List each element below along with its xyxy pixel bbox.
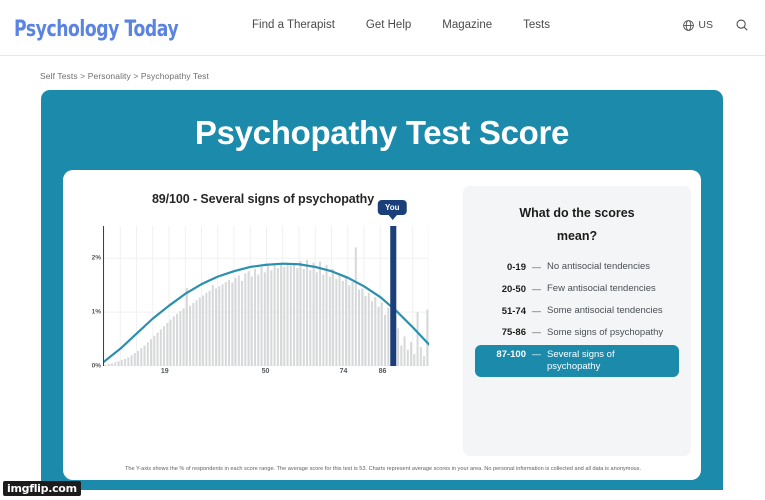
histogram-bar	[300, 261, 302, 366]
histogram-bar	[316, 272, 318, 366]
histogram-bar	[387, 308, 389, 366]
histogram-bar	[400, 346, 402, 366]
site-logo[interactable]: Psychology Today	[14, 14, 178, 41]
histogram-bar	[248, 271, 250, 366]
chart-svg	[104, 226, 429, 366]
you-marker-bar	[390, 226, 396, 366]
legend-dash: —	[532, 327, 541, 338]
legend-dash: —	[532, 305, 541, 316]
histogram-bar	[114, 362, 116, 366]
histogram-bar	[196, 300, 198, 366]
histogram-bar	[339, 273, 341, 366]
legend-row: 20-50—Few antisocial tendencies	[475, 279, 679, 299]
histogram-bar	[241, 281, 243, 366]
histogram-bar	[345, 278, 347, 366]
nav-utility-group: US	[682, 18, 749, 32]
page-title: Psychopathy Test Score	[41, 114, 723, 152]
histogram-bar	[235, 278, 237, 366]
histogram-bar	[296, 268, 298, 366]
legend-description: Few antisocial tendencies	[547, 283, 656, 295]
globe-icon	[682, 19, 695, 32]
search-icon[interactable]	[735, 18, 749, 32]
histogram-bar	[189, 306, 191, 366]
score-legend-panel: What do the scores mean? 0-19—No antisoc…	[463, 186, 691, 456]
histogram-bar	[342, 281, 344, 366]
histogram-bar	[166, 323, 168, 366]
histogram-bar	[257, 274, 259, 366]
histogram-bar	[290, 266, 292, 366]
histogram-bar	[381, 302, 383, 366]
histogram-bar	[183, 308, 185, 366]
histogram-bar	[410, 342, 412, 366]
histogram-bar	[378, 307, 380, 366]
histogram-bar	[277, 268, 279, 366]
legend-row: 75-86—Some signs of psychopathy	[475, 323, 679, 343]
histogram-bar	[313, 263, 315, 366]
histogram-bar	[202, 295, 204, 366]
histogram-bar	[365, 296, 367, 366]
histogram-bar	[348, 285, 350, 366]
histogram-bar	[326, 265, 328, 366]
histogram-bar	[329, 277, 331, 366]
legend-range: 0-19	[484, 261, 526, 273]
legend-description: No antisocial tendencies	[547, 261, 650, 273]
histogram-bar	[205, 293, 207, 366]
histogram-bar	[134, 353, 136, 366]
histogram-bar	[270, 270, 272, 366]
histogram-bar	[215, 288, 217, 366]
x-tick-label: 74	[340, 368, 348, 375]
x-tick-label: 19	[161, 368, 169, 375]
breadcrumb-item-self-tests[interactable]: Self Tests	[40, 71, 78, 81]
histogram-bar	[368, 293, 370, 366]
histogram-bar	[267, 266, 269, 366]
histogram-bar	[199, 298, 201, 366]
histogram-bar	[209, 291, 211, 366]
histogram-bar	[384, 315, 386, 366]
histogram-bar	[254, 269, 256, 366]
histogram-bar	[322, 274, 324, 366]
breadcrumb-item-psychopathy-test: Psychopathy Test	[141, 71, 209, 81]
histogram-bar	[355, 248, 357, 366]
histogram-bar	[287, 263, 289, 366]
histogram-bar	[212, 285, 214, 366]
histogram-bar	[157, 333, 159, 366]
page-root: Psychology Today Find a Therapist Get He…	[0, 0, 765, 500]
histogram-bar	[332, 269, 334, 366]
top-navigation-bar: Psychology Today Find a Therapist Get He…	[0, 0, 765, 56]
nav-item-get-help[interactable]: Get Help	[366, 19, 411, 31]
imgflip-watermark: imgflip.com	[3, 481, 81, 496]
histogram-bar	[283, 267, 285, 366]
y-tick-label: 1%	[92, 309, 101, 316]
histogram-bar	[105, 365, 107, 366]
histogram-bar	[131, 355, 133, 366]
plot-area	[103, 226, 428, 366]
main-nav-links: Find a Therapist Get Help Magazine Tests	[252, 19, 550, 31]
histogram-bar	[124, 359, 126, 366]
region-label: US	[698, 19, 713, 31]
histogram-bar	[192, 303, 194, 366]
histogram-bar	[127, 357, 129, 366]
histogram-bar	[251, 277, 253, 366]
histogram-bar	[170, 320, 172, 366]
histogram-bar	[137, 351, 139, 366]
histogram-bar	[319, 262, 321, 366]
histogram-bar	[352, 282, 354, 366]
legend-description: Some antisocial tendencies	[547, 305, 663, 317]
result-card: 89/100 - Several signs of psychopathy 0%…	[63, 170, 701, 480]
breadcrumb-separator-1: >	[80, 71, 85, 81]
histogram-bar	[144, 346, 146, 366]
histogram-bar	[163, 326, 165, 366]
legend-range: 75-86	[484, 327, 526, 339]
histogram-bar	[306, 260, 308, 366]
histogram-bar	[228, 280, 230, 366]
you-marker-badge: You	[378, 200, 407, 215]
histogram-bar	[361, 288, 363, 366]
histogram-bar	[417, 312, 419, 366]
breadcrumb-separator-2: >	[133, 71, 138, 81]
histogram-bar	[420, 347, 422, 366]
legend-row: 87-100—Several signs of psychopathy	[475, 345, 679, 377]
y-tick-label: 2%	[92, 255, 101, 262]
legend-dash: —	[532, 261, 541, 272]
result-banner: Psychopathy Test Score 89/100 - Several …	[41, 90, 723, 490]
nav-item-tests[interactable]: Tests	[523, 19, 550, 31]
distribution-chart: 0%1%2% 19507486 You	[73, 226, 453, 401]
histogram-bar	[280, 264, 282, 366]
x-axis-labels: 19507486	[103, 368, 428, 382]
histogram-bar	[218, 286, 220, 366]
histogram-bar	[374, 297, 376, 366]
y-axis-labels: 0%1%2%	[73, 226, 101, 366]
histogram-bar	[261, 267, 263, 366]
histogram-bar	[111, 363, 113, 366]
histogram-bar	[140, 348, 142, 366]
breadcrumb-item-personality[interactable]: Personality	[88, 71, 131, 81]
legend-title: What do the scores mean?	[475, 202, 679, 248]
histogram-bar	[423, 356, 425, 366]
histogram-bar	[404, 336, 406, 366]
y-tick-label: 0%	[92, 363, 101, 370]
legend-description: Some signs of psychopathy	[547, 327, 663, 339]
x-tick-label: 50	[262, 368, 270, 375]
histogram-bar	[150, 339, 152, 366]
histogram-bar	[121, 360, 123, 366]
histogram-bar	[264, 272, 266, 366]
histogram-bar	[225, 282, 227, 366]
histogram-bar	[358, 290, 360, 366]
histogram-bar	[160, 329, 162, 366]
legend-range: 20-50	[484, 283, 526, 295]
x-tick-label: 86	[379, 368, 387, 375]
chart-footnote: The Y-axis shows the % of respondents in…	[105, 465, 661, 474]
histogram-bar	[303, 269, 305, 366]
histogram-bar	[293, 264, 295, 366]
histogram-bar	[231, 283, 233, 366]
histogram-bar	[397, 328, 399, 366]
score-chart-section: 89/100 - Several signs of psychopathy 0%…	[73, 186, 453, 416]
nav-item-magazine[interactable]: Magazine	[442, 19, 492, 31]
histogram-bar	[426, 309, 428, 366]
legend-row: 51-74—Some antisocial tendencies	[475, 301, 679, 321]
histogram-bar	[413, 354, 415, 366]
histogram-bar	[309, 270, 311, 366]
legend-dash: —	[532, 283, 541, 294]
histogram-bar	[186, 288, 188, 366]
legend-row: 0-19—No antisocial tendencies	[475, 257, 679, 277]
histogram-bar	[371, 301, 373, 366]
histogram-bar	[147, 342, 149, 366]
histogram-bar	[108, 364, 110, 366]
legend-range: 87-100	[484, 349, 526, 361]
histogram-bar	[179, 311, 181, 366]
histogram-bar	[176, 314, 178, 366]
histogram-bar	[407, 350, 409, 366]
nav-item-find-a-therapist[interactable]: Find a Therapist	[252, 19, 335, 31]
histogram-bar	[335, 279, 337, 366]
histogram-bar	[153, 336, 155, 366]
histogram-bar	[222, 284, 224, 366]
region-selector[interactable]: US	[682, 19, 713, 32]
histogram-bar	[244, 273, 246, 366]
legend-title-line1: What do the scores	[475, 202, 679, 225]
legend-description: Several signs of psychopathy	[547, 349, 670, 373]
histogram-bar	[238, 276, 240, 366]
legend-range: 51-74	[484, 305, 526, 317]
histogram-bar	[274, 265, 276, 366]
histogram-bar	[173, 316, 175, 366]
histogram-bar	[118, 361, 120, 366]
legend-rows: 0-19—No antisocial tendencies20-50—Few a…	[475, 257, 679, 376]
legend-title-line2: mean?	[475, 225, 679, 248]
breadcrumb: Self Tests > Personality > Psychopathy T…	[40, 71, 209, 81]
legend-dash: —	[532, 349, 541, 360]
